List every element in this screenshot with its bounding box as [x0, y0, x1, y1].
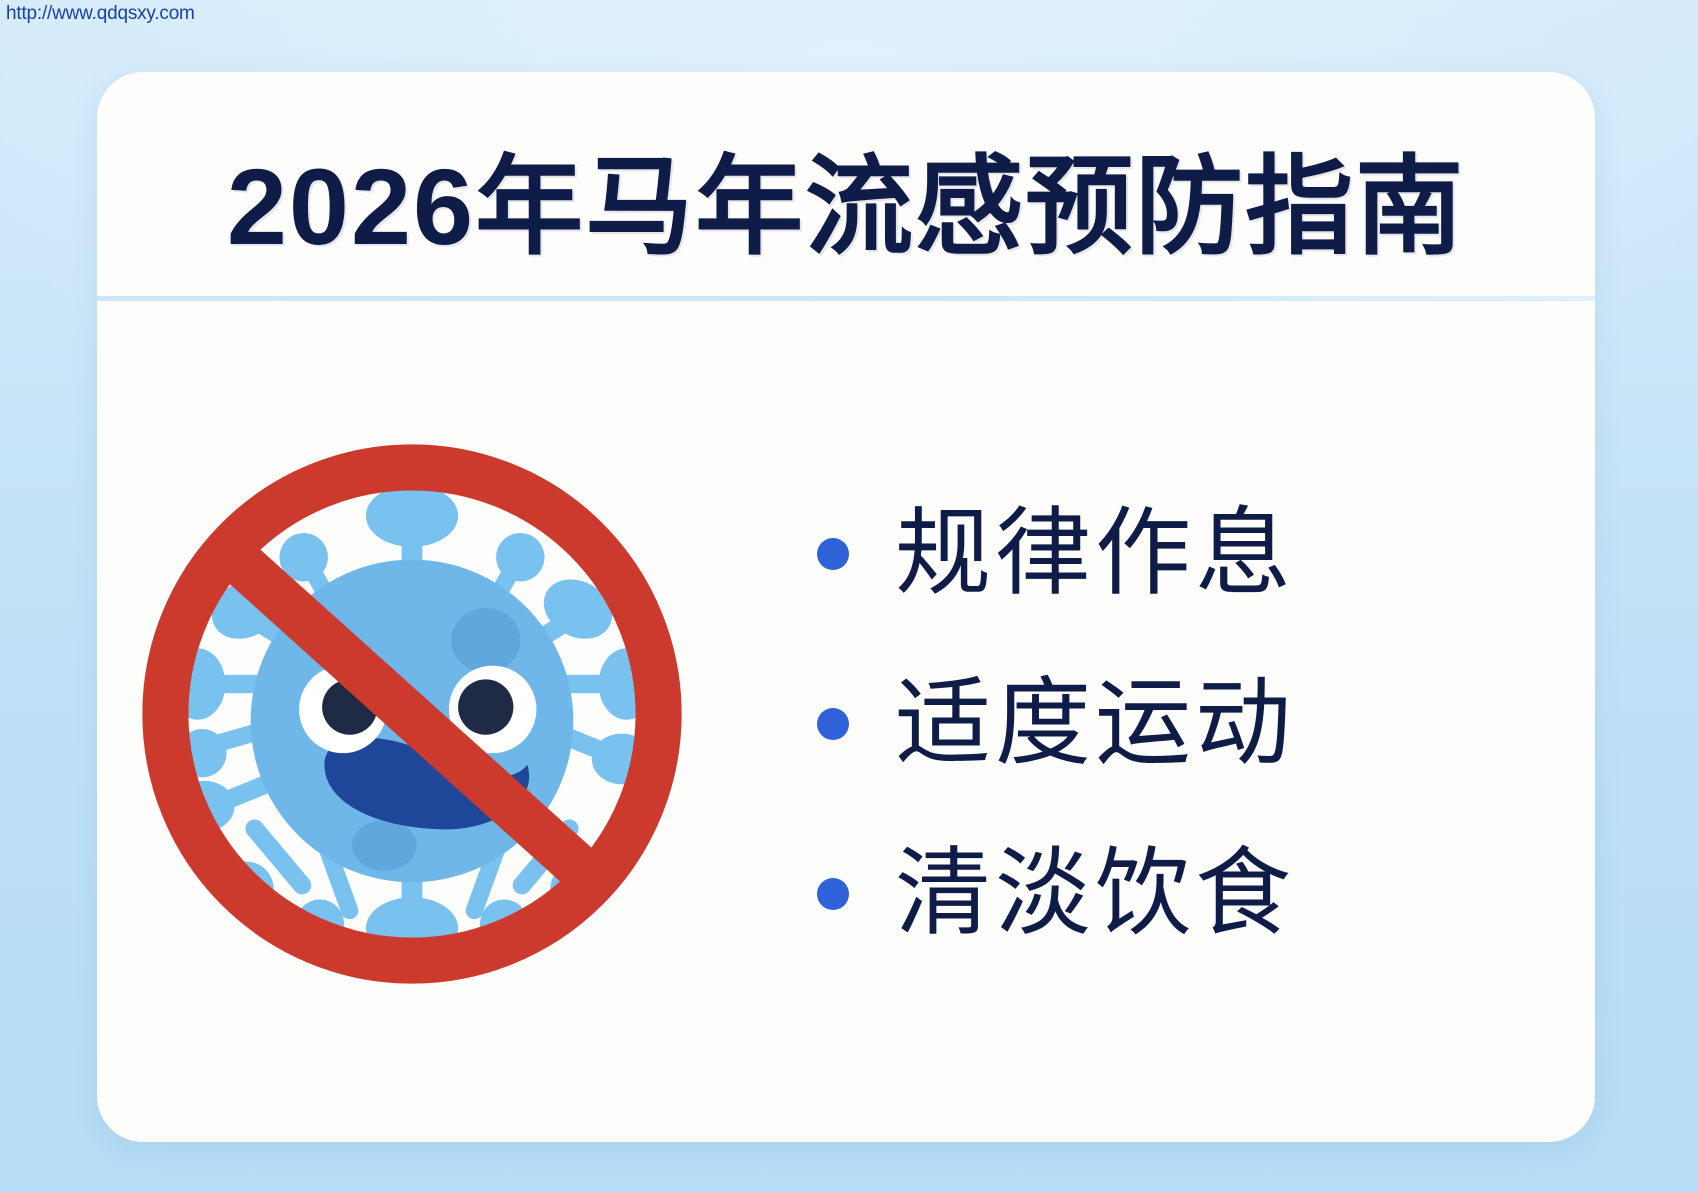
bullet-icon [817, 708, 849, 740]
virus-spot-top [451, 608, 520, 673]
watermark-url: http://www.qdqsxy.com [6, 3, 195, 25]
poster-root: http://www.qdqsxy.com 2026年马年流感预防指南 [0, 0, 1698, 1192]
tip-label-3: 清淡饮食 [895, 846, 1295, 942]
tips-list: 规律作息 适度运动 清淡饮食 [777, 301, 1595, 1142]
bullet-icon [817, 878, 849, 910]
virus-spot-bottom [352, 820, 417, 871]
tip-label-1: 规律作息 [895, 506, 1295, 602]
illustration-column [97, 301, 777, 1142]
poster-content: 规律作息 适度运动 清淡饮食 [97, 301, 1595, 1142]
list-item: 清淡饮食 [777, 809, 1595, 979]
list-item: 规律作息 [777, 469, 1595, 639]
bullet-icon [817, 538, 849, 570]
page-title-text: 2026年马年流感预防指南 [227, 148, 1465, 267]
tip-label-2: 适度运动 [895, 676, 1295, 772]
no-virus-icon [117, 419, 707, 1009]
list-item: 适度运动 [777, 639, 1595, 809]
page-title: 2026年马年流感预防指南 [97, 122, 1595, 292]
poster-card: 2026年马年流感预防指南 [97, 72, 1595, 1142]
